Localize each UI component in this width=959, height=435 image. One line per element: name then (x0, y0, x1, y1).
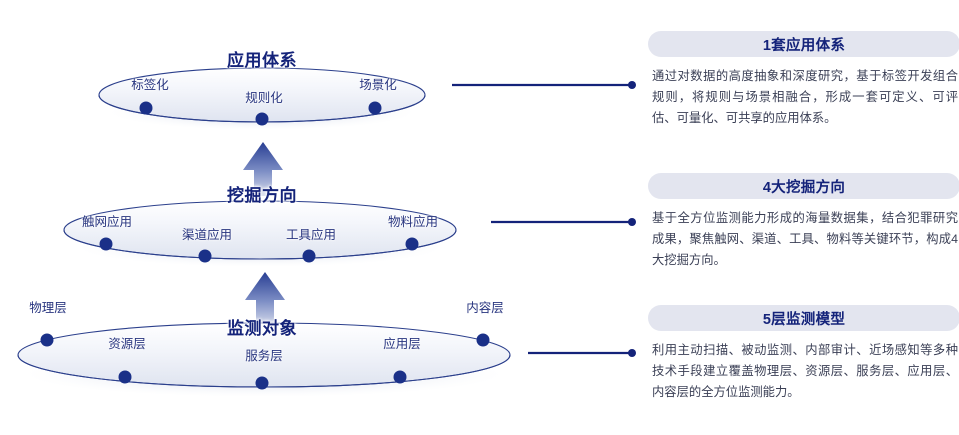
panel-heading-pill-application-system: 1套应用体系 (648, 31, 959, 57)
pyramid-diagram: 应用体系 标签化 规则化 场景化 挖掘方向 触网应用 渠道应用 工具应用 物料应… (0, 0, 640, 435)
panel-heading-text: 4大挖掘方向 (763, 176, 845, 197)
diagram-canvas: 应用体系 标签化 规则化 场景化 挖掘方向 触网应用 渠道应用 工具应用 物料应… (0, 0, 959, 435)
node-label-fuwuceng: 服务层 (245, 345, 283, 364)
panel-mining-direction: 4大挖掘方向 基于全方位监测能力形成的海量数据集，结合犯罪研究成果，聚焦触网、渠… (648, 173, 959, 271)
panel-heading-pill-monitoring-model: 5层监测模型 (648, 305, 959, 331)
panel-monitoring-model: 5层监测模型 利用主动扫描、被动监测、内部审计、近场感知等多种技术手段建立覆盖物… (648, 305, 959, 403)
node-label-gongjuyingyong: 工具应用 (286, 224, 336, 243)
node-label-ziyuanceng: 资源层 (108, 333, 146, 352)
node-label-biaoqianhua: 标签化 (131, 74, 169, 93)
node-label-yingyongceng: 应用层 (383, 333, 421, 352)
panel-body-mining-direction: 基于全方位监测能力形成的海量数据集，结合犯罪研究成果，聚焦触网、渠道、工具、物料… (648, 208, 959, 271)
panel-heading-pill-mining-direction: 4大挖掘方向 (648, 173, 959, 199)
node-label-changjinghua: 场景化 (359, 74, 397, 93)
tier-title-monitoring-object: 监测对象 (227, 314, 297, 339)
node-label-neirongceng: 内容层 (466, 297, 504, 316)
node-label-qudaoyingyong: 渠道应用 (182, 224, 232, 243)
panel-heading-text: 5层监测模型 (763, 308, 845, 329)
connector-line-top (452, 81, 636, 89)
node-label-wulaiceng: 物理层 (29, 297, 67, 316)
connector-line-middle (491, 218, 636, 226)
panel-application-system: 1套应用体系 通过对数据的高度抽象和深度研究，基于标签开发组合规则，将规则与场景… (648, 31, 959, 129)
tier-disc-mining-direction (64, 201, 456, 259)
connector-line-bottom (528, 349, 636, 357)
panel-heading-text: 1套应用体系 (763, 34, 845, 55)
tier-title-mining-direction: 挖掘方向 (227, 181, 297, 206)
tier-title-application-system: 应用体系 (227, 46, 297, 71)
panel-body-application-system: 通过对数据的高度抽象和深度研究，基于标签开发组合规则，将规则与场景相融合，形成一… (648, 66, 959, 129)
node-label-wuliaoyingyong: 物料应用 (388, 211, 438, 230)
panel-body-monitoring-model: 利用主动扫描、被动监测、内部审计、近场感知等多种技术手段建立覆盖物理层、资源层、… (648, 340, 959, 403)
node-label-guizehua: 规则化 (245, 87, 283, 106)
node-label-chuwangyingyong: 触网应用 (82, 211, 132, 230)
